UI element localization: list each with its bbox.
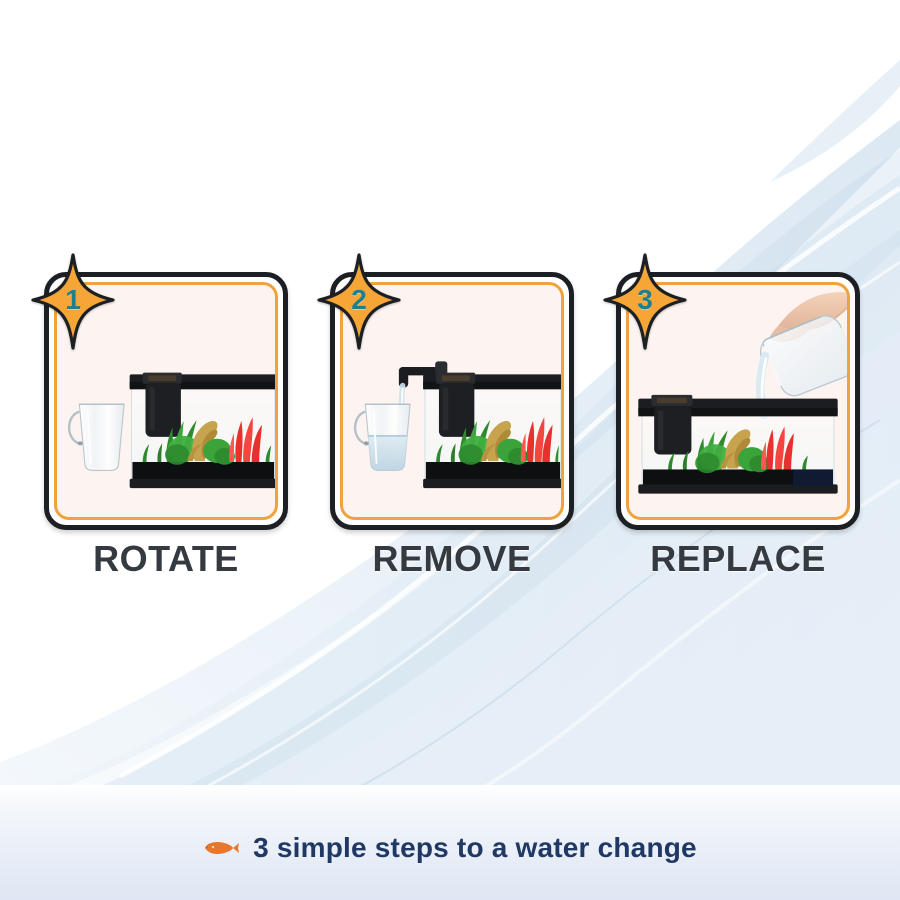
steps-container: 1 ROTATE [0, 0, 900, 900]
footer-caption: 3 simple steps to a water change [0, 832, 900, 864]
step-label-remove: REMOVE [330, 538, 574, 580]
step-label-replace: REPLACE [616, 538, 860, 580]
step-badge-2: 2 [316, 252, 402, 352]
filter-cartridge [436, 373, 475, 437]
filter-cartridge [143, 373, 182, 437]
pouring-pitcher [761, 316, 847, 396]
caption-text: 3 simple steps to a water change [253, 832, 697, 864]
four-point-star-icon [30, 252, 116, 352]
step-badge-3: 3 [602, 252, 688, 352]
step-badge-1: 1 [30, 252, 116, 352]
water-in-glass [368, 436, 407, 470]
fish-icon [203, 838, 239, 858]
step-label-rotate: ROTATE [44, 538, 288, 580]
glass-pitcher [69, 404, 124, 470]
step-card-1[interactable]: 1 ROTATE [44, 272, 288, 592]
step-card-3[interactable]: 3 REPLACE [616, 272, 860, 592]
four-point-star-icon [316, 252, 402, 352]
four-point-star-icon [602, 252, 688, 352]
filter-cartridge [651, 395, 692, 455]
step-card-2[interactable]: 2 REMOVE [330, 272, 574, 592]
glass-pitcher-filled [355, 404, 410, 470]
